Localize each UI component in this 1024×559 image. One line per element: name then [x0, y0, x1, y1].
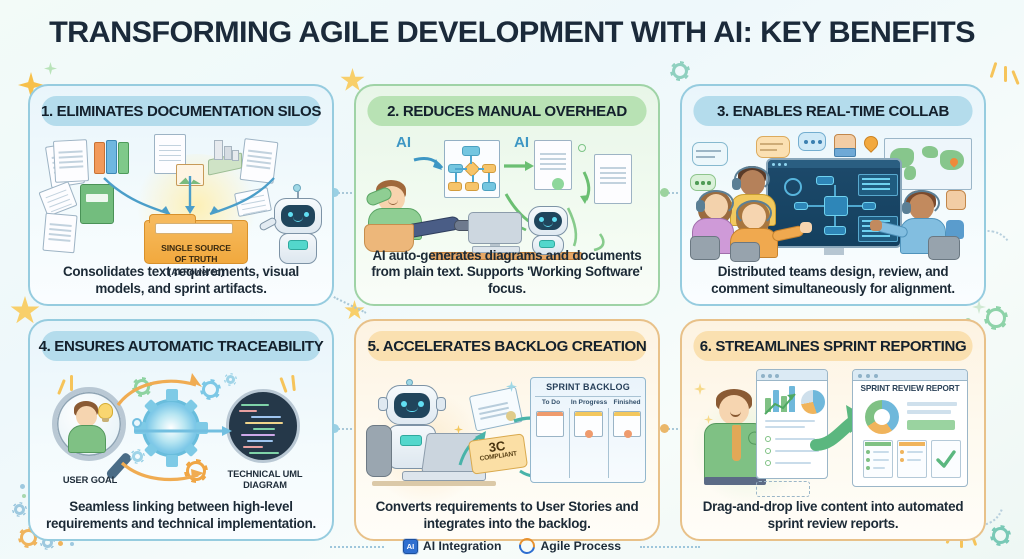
column-header-inprogress: In Progress: [570, 399, 608, 406]
card-2-illustration: AI AI: [362, 128, 652, 264]
person-head: [76, 406, 97, 427]
card-2-caption: AI auto-generates diagrams and documents…: [364, 248, 650, 298]
binder-icon: [118, 142, 129, 174]
benefit-card-1[interactable]: 1. ELIMINATES DOCUMENTATION SILOS: [28, 84, 334, 306]
building-model-icon: [214, 140, 223, 160]
sparkle-star-icon: [694, 383, 706, 395]
window-title-bar: [853, 370, 967, 381]
thumbs-up-icon: [946, 190, 966, 210]
donut-hole: [874, 409, 890, 425]
screen-wire: [848, 205, 862, 207]
dot-decoration: [22, 494, 26, 498]
screen-ring-icon: [784, 178, 802, 196]
chat-bubble-icon: [756, 136, 790, 158]
card-3-header: 3. ENABLES REAL-TIME COLLAB: [693, 96, 972, 126]
robot-antenna-tip: [293, 184, 301, 192]
legend-dots-right: [640, 546, 700, 548]
flow-arrows: [408, 138, 638, 258]
robot-face: [394, 393, 430, 418]
thumbs-up-cuff: [834, 148, 856, 157]
sparkle-ray: [1011, 70, 1019, 85]
window-line: [775, 450, 819, 452]
chat-bubble-icon: [692, 142, 728, 166]
sparkle-ray: [291, 375, 296, 391]
list-bullet: [866, 466, 870, 470]
single-source-of-truth-folder: SINGLE SOURCE OF TRUTH: [144, 220, 248, 264]
person-hand: [800, 222, 812, 233]
headset-ear: [696, 200, 705, 212]
gear-icon: [14, 504, 25, 515]
list-bullet: [866, 450, 870, 454]
card-6-caption: Drag-and-drop live content into automate…: [690, 499, 976, 532]
link-node: [132, 418, 142, 428]
folder-label: SINGLE SOURCE OF TRUTH: [145, 243, 247, 264]
card-6-header: 6. STREAMLINES SPRINT REPORTING: [693, 331, 972, 361]
window-dot: [761, 374, 765, 378]
chair-back: [690, 236, 720, 260]
screen-node: [816, 176, 834, 185]
person-body: [68, 425, 106, 453]
location-pin-icon: [861, 133, 881, 153]
screen-node-center: [824, 196, 848, 216]
checkmark-icon: [935, 448, 957, 470]
trend-line: [763, 390, 799, 416]
lightbulb-icon: [98, 403, 113, 419]
column-header-todo: To Do: [533, 399, 569, 406]
window-line: [765, 420, 815, 422]
folder-label-line2: OF TRUTH: [175, 254, 218, 264]
folder-paper: [155, 223, 233, 234]
screen-wire: [808, 205, 824, 207]
card-4-caption: Seamless linking between high-level requ…: [38, 499, 324, 532]
screen-node: [824, 226, 846, 235]
dot-decoration: [20, 484, 25, 489]
monitor-stand: [824, 248, 844, 255]
document-icon: [38, 181, 77, 217]
card-3-caption: Distributed teams design, review, and co…: [690, 264, 976, 297]
connector-node: [578, 144, 586, 152]
list-bullet: [900, 458, 904, 462]
board-title: SPRINT BACKLOG: [531, 382, 645, 392]
legend-dots-left: [330, 546, 384, 548]
page-title: TRANSFORMING AGILE DEVELOPMENT WITH AI: …: [0, 16, 1024, 50]
uml-label-line2: DIAGRAM: [243, 480, 287, 490]
benefit-card-6[interactable]: 6. STREAMLINES SPRINT REPORTING: [680, 319, 986, 541]
legend-label-agile: Agile Process: [540, 539, 621, 553]
sticky-badge: [624, 430, 632, 438]
report-pill: [907, 420, 955, 430]
sprint-review-report-window: SPRINT REVIEW REPORT: [852, 369, 968, 487]
legend: AI AI Integration Agile Process: [0, 538, 1024, 554]
chat-bubble-icon: [690, 174, 716, 191]
legend-item-ai: AI AI Integration: [403, 539, 502, 554]
report-card-accent: [865, 442, 891, 446]
window-dot: [866, 374, 870, 378]
window-dot: [768, 374, 772, 378]
building-model-icon: [232, 150, 239, 161]
uml-diagram-label: TECHNICAL UML DIAGRAM: [222, 469, 308, 491]
sparkle-ray: [279, 377, 287, 393]
backlog-sticky[interactable]: [536, 411, 564, 437]
column-header-finished: Finished: [609, 399, 645, 406]
benefit-card-3[interactable]: 3. ENABLES REAL-TIME COLLAB: [680, 84, 986, 306]
document-icon: [53, 139, 89, 183]
headset-ear: [732, 178, 741, 190]
robot-face: [281, 205, 315, 227]
report-title: SPRINT REVIEW REPORT: [853, 384, 967, 393]
report-line: [907, 410, 951, 414]
robot-chest-panel: [400, 435, 422, 446]
agile-cycle-icon: [516, 535, 538, 557]
card-3-illustration: [688, 128, 978, 264]
card-5-caption: Converts requirements to User Stories an…: [364, 499, 650, 532]
card-2-header: 2. REDUCES MANUAL OVERHEAD: [367, 96, 646, 126]
map-landmass: [904, 166, 916, 180]
list-bullet: [765, 436, 771, 442]
lightbulb-base: [102, 418, 109, 422]
robot-ear: [378, 397, 388, 411]
card-4-illustration: USER GOAL TECHNICAL UML DIAGRAM: [36, 363, 326, 499]
map-landmass: [922, 146, 938, 158]
building-model-icon: [224, 146, 232, 160]
window-dot: [775, 374, 779, 378]
user-goal-label: USER GOAL: [48, 475, 132, 486]
report-card-accent: [899, 442, 925, 446]
person-head: [719, 395, 749, 425]
binder-icon: [94, 142, 105, 174]
list-bullet: [765, 460, 771, 466]
card-1-caption: Consolidates text requirements, visual m…: [38, 264, 324, 297]
robot-eye-right: [304, 212, 309, 217]
window-line: [775, 462, 811, 464]
gear-icon: [672, 63, 688, 79]
card-5-header: 5. ACCELERATES BACKLOG CREATION: [367, 331, 646, 361]
folder-tab: [149, 214, 196, 223]
card-1-header: 1. ELIMINATES DOCUMENTATION SILOS: [41, 96, 320, 126]
chair-back: [928, 236, 960, 260]
sparkle-star-icon: [44, 62, 57, 75]
legend-item-agile: Agile Process: [519, 538, 621, 554]
ai-chip-icon: AI: [403, 539, 418, 554]
robot-chair: [366, 425, 392, 477]
headset-icon: [736, 200, 772, 226]
benefit-card-2[interactable]: 2. REDUCES MANUAL OVERHEAD AI AI: [354, 84, 660, 306]
list-bullet: [866, 458, 870, 462]
list-bullet: [900, 450, 904, 454]
screen-node: [794, 202, 808, 210]
screen-node: [862, 202, 876, 210]
drop-zone: [756, 481, 810, 497]
card-4-header: 4. ENSURES AUTOMATIC TRACEABILITY: [41, 331, 320, 361]
window-line: [775, 438, 815, 440]
robot-face: [534, 212, 562, 230]
robot-ear: [436, 397, 446, 411]
sprint-backlog-board: SPRINT BACKLOG To Do In Progress Finishe…: [530, 377, 646, 483]
legend-label-ai: AI Integration: [423, 539, 502, 553]
document-icon: [42, 213, 77, 254]
benefit-card-4[interactable]: 4. ENSURES AUTOMATIC TRACEABILITY: [28, 319, 334, 541]
card-1-illustration: SINGLE SOURCE OF TRUTH (AI-Powered): [36, 128, 326, 264]
card-6-illustration: SPRINT REVIEW REPORT: [688, 363, 978, 499]
monitor: [468, 212, 522, 244]
sparkle-ray: [1004, 66, 1007, 82]
chair-back: [730, 242, 760, 262]
window-line: [765, 426, 805, 428]
sticky-badge: [585, 430, 593, 438]
infographic-canvas: TRANSFORMING AGILE DEVELOPMENT WITH AI: …: [0, 0, 1024, 559]
window-dot: [858, 374, 862, 378]
sparkle-ray: [990, 62, 998, 78]
screen-wire: [834, 185, 836, 196]
window-dot: [874, 374, 878, 378]
person-hand: [870, 220, 882, 231]
benefits-grid: 1. ELIMINATES DOCUMENTATION SILOS: [28, 84, 996, 541]
folder-label-line1: SINGLE SOURCE: [161, 243, 231, 253]
card-5-illustration: 3C COMPLIANT SPRINT BACKLOG To Do In Pro…: [362, 363, 652, 499]
sparkle-ray: [57, 379, 66, 395]
list-bullet: [765, 448, 771, 454]
necktie: [732, 425, 741, 461]
robot-chest-panel: [288, 240, 308, 250]
headset-ear: [902, 202, 911, 214]
robot-eye-right: [418, 401, 424, 407]
report-line: [907, 402, 957, 406]
chat-bubble-icon: [798, 132, 826, 151]
uml-label-line1: TECHNICAL UML: [228, 469, 303, 479]
screen-wire: [834, 216, 836, 226]
benefit-card-5[interactable]: 5. ACCELERATES BACKLOG CREATION: [354, 319, 660, 541]
binder-icon: [106, 140, 117, 174]
sparkle-ray: [70, 375, 73, 391]
